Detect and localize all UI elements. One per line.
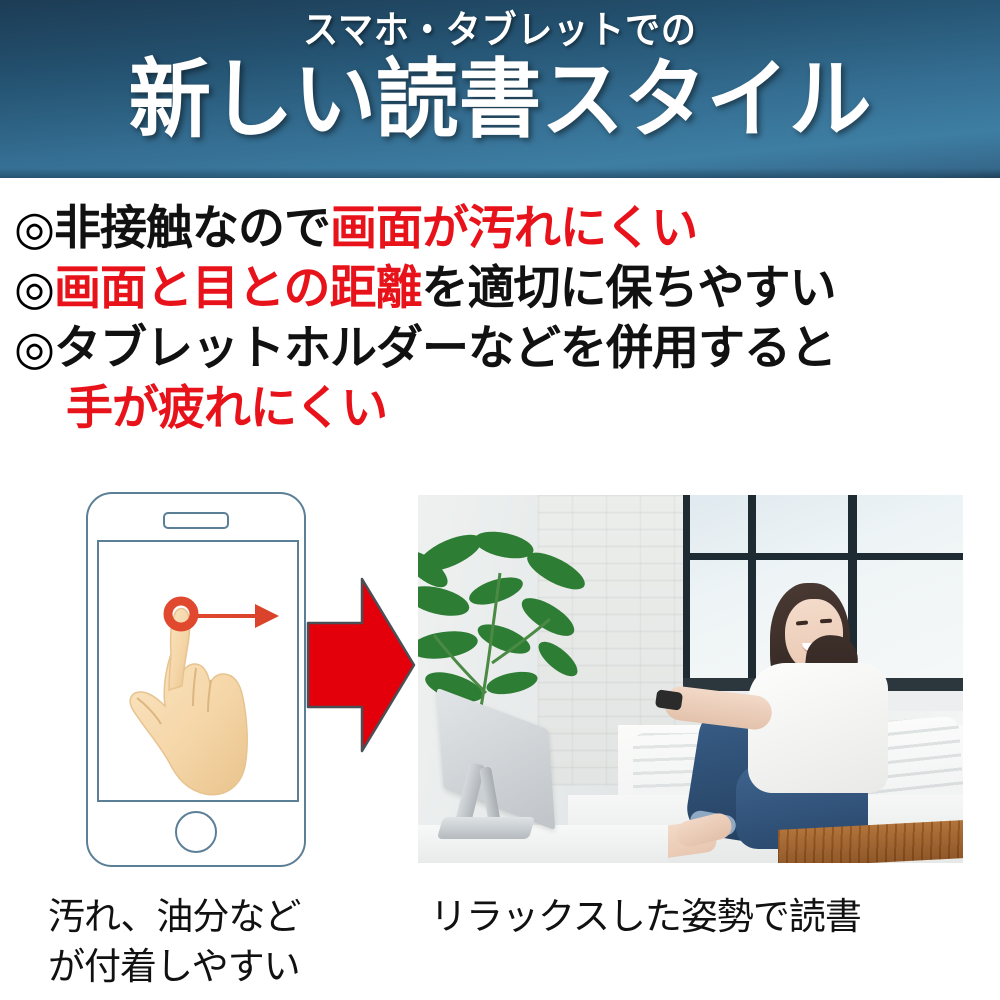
benefit-1-text-b: 画面が汚れにくい	[330, 201, 697, 254]
right-caption: リラックスした姿勢で読書	[430, 892, 980, 942]
benefit-item-3: ◎タブレットホルダーなどを併用すると	[14, 318, 989, 378]
photo-window-frame-left	[683, 495, 690, 685]
benefit-2-text-a: 画面と目との距離	[54, 261, 422, 314]
benefit-1-text-a: 非接触なので	[54, 201, 330, 254]
benefit-list: ◎非接触なので画面が汚れにくい ◎画面と目との距離を適切に保ちやすい ◎タブレッ…	[14, 198, 989, 439]
bullet-marker-icon: ◎	[14, 198, 54, 258]
photo-woman-eye	[820, 619, 832, 624]
banner-subtitle: スマホ・タブレットでの	[40, 10, 960, 54]
bullet-marker-icon: ◎	[14, 258, 54, 318]
smartphone-illustration	[86, 492, 306, 867]
banner-title: 新しい読書スタイル	[20, 52, 980, 148]
benefit-item-2: ◎画面と目との距離を適切に保ちやすい	[14, 258, 989, 318]
header-banner: スマホ・タブレットでの 新しい読書スタイル	[0, 0, 1000, 178]
right-arrow-icon	[300, 575, 420, 755]
left-caption: 汚れ、油分など が付着しやすい	[48, 892, 378, 992]
benefit-2-text-b: を適切に保ちやすい	[422, 261, 836, 314]
lifestyle-photo	[418, 495, 963, 863]
benefit-item-1: ◎非接触なので画面が汚れにくい	[14, 198, 989, 258]
phone-body	[86, 492, 306, 867]
swipe-hand-icon	[113, 594, 293, 802]
bullet-marker-icon: ◎	[14, 318, 54, 378]
phone-screen	[97, 540, 299, 802]
phone-speaker-icon	[163, 512, 229, 529]
left-caption-line-1: 汚れ、油分など	[48, 892, 378, 942]
benefit-3-text-a: タブレットホルダーなどを併用すると	[54, 321, 836, 374]
photo-window-mullion	[748, 495, 756, 685]
right-caption-text: リラックスした姿勢で読書	[430, 892, 980, 942]
photo-woman-sweater	[748, 663, 888, 793]
transition-arrow	[300, 575, 420, 755]
benefit-4-text-a: 手が疲れにくい	[66, 381, 387, 434]
photo-stand-base	[437, 817, 535, 839]
photo-remote-control	[655, 689, 683, 710]
photo-window-mullion	[683, 553, 963, 560]
poster-page: スマホ・タブレットでの 新しい読書スタイル ◎非接触なので画面が汚れにくい ◎画…	[0, 0, 1000, 1000]
left-caption-line-2: が付着しやすい	[48, 942, 378, 992]
phone-home-button-icon	[175, 811, 217, 853]
benefit-item-4: 手が疲れにくい	[14, 378, 989, 438]
